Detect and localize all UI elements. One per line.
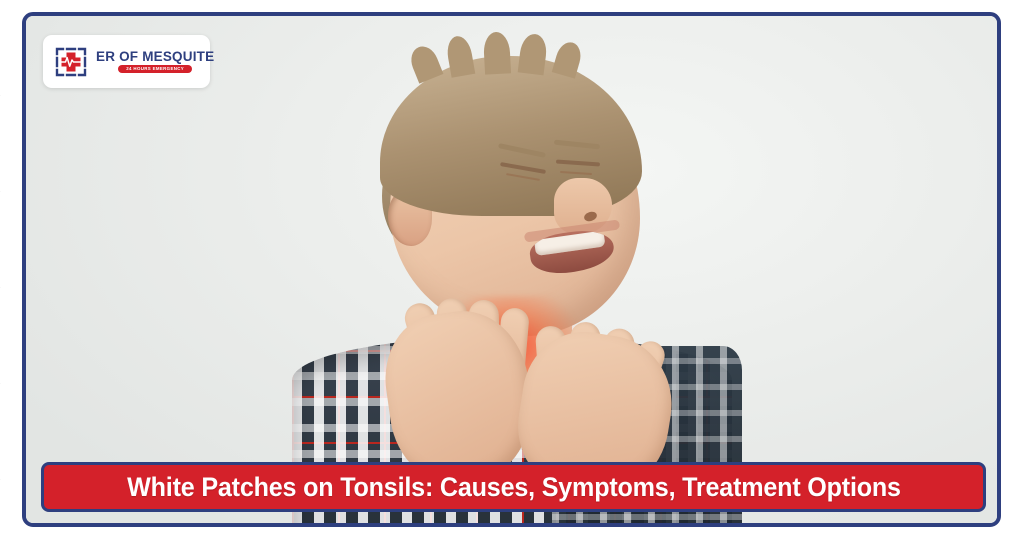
article-card: ER OF MESQUITE 24 HOURS EMERGENCY White …: [22, 12, 1001, 527]
page-title: White Patches on Tonsils: Causes, Sympto…: [127, 472, 901, 503]
logo-plate[interactable]: ER OF MESQUITE 24 HOURS EMERGENCY: [43, 35, 210, 88]
logo-hours-badge: 24 HOURS EMERGENCY: [118, 65, 192, 73]
hero-photo: [26, 16, 997, 523]
medical-cross-heartbeat-icon: [51, 42, 91, 82]
title-banner: White Patches on Tonsils: Causes, Sympto…: [41, 462, 986, 512]
logo-name: ER OF MESQUITE: [96, 50, 214, 64]
logo-text-block: ER OF MESQUITE 24 HOURS EMERGENCY: [96, 50, 214, 74]
photo-subject-boy: [302, 16, 722, 523]
hair-spike: [482, 31, 510, 74]
hair-spike: [517, 33, 548, 76]
